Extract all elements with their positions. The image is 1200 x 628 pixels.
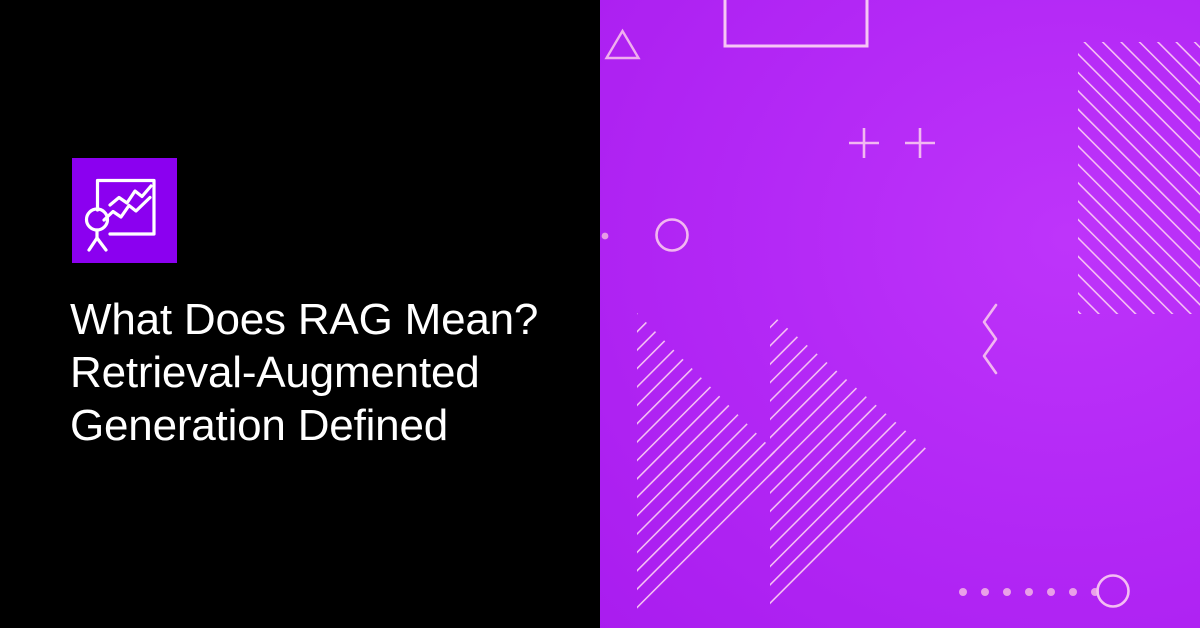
article-social-card: What Does RAG Mean? Retrieval-Augmented … bbox=[0, 0, 1200, 628]
decorative-shapes-group bbox=[600, 0, 1200, 628]
circle-outline-lower bbox=[1098, 576, 1129, 607]
decorative-graphic-panel bbox=[600, 0, 1200, 628]
hatched-rectangle-top-right bbox=[1078, 42, 1200, 314]
hatched-triangle-right bbox=[760, 300, 950, 628]
plus-mark-2 bbox=[905, 128, 935, 158]
plus-mark-1 bbox=[849, 128, 879, 158]
presentation-chart-person-glyph bbox=[72, 158, 177, 263]
circle-outline-upper bbox=[657, 220, 688, 251]
presentation-chart-person-icon bbox=[72, 158, 177, 263]
zigzag-line-icon bbox=[984, 305, 996, 373]
rectangle-outline-icon bbox=[725, 0, 867, 46]
triangle-outline-icon bbox=[607, 31, 639, 58]
left-content-panel: What Does RAG Mean? Retrieval-Augmented … bbox=[0, 0, 600, 628]
page-title: What Does RAG Mean? Retrieval-Augmented … bbox=[70, 293, 540, 452]
dot-row bbox=[959, 588, 1099, 596]
small-dot-left bbox=[602, 233, 609, 240]
